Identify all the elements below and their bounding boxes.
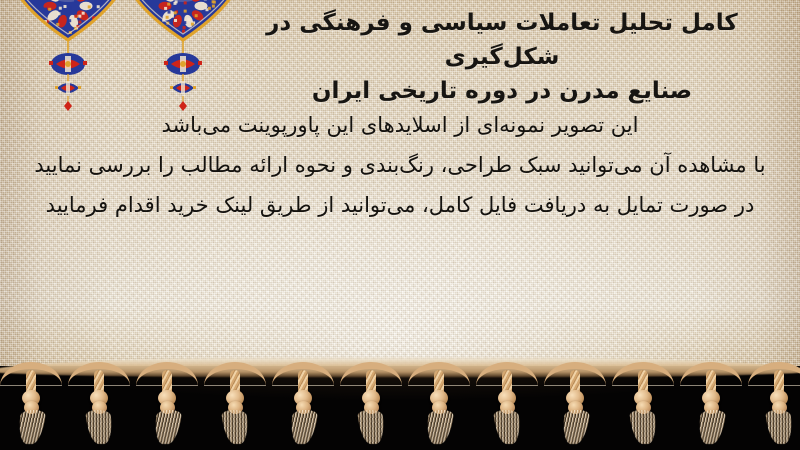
slide-title-line-2: صنایع مدرن در دوره تاریخی ایران (312, 78, 692, 104)
slide-body-text: این تصویر نمونه‌ای از اسلایدهای این پاور… (10, 105, 790, 225)
slide-bottom-black-band (0, 366, 800, 450)
presentation-slide: کامل تحلیل تعاملات سیاسی و فرهنگی در شکل… (0, 0, 800, 450)
slide-body-line-2: با مشاهده آن می‌توانید سبک طراحی، رنگ‌بن… (10, 145, 790, 185)
slide-title: کامل تحلیل تعاملات سیاسی و فرهنگی در شکل… (222, 6, 782, 108)
slide-body-line-3: در صورت تمایل به دریافت فایل کامل، می‌تو… (10, 185, 790, 225)
slide-text-layer: کامل تحلیل تعاملات سیاسی و فرهنگی در شکل… (0, 0, 800, 372)
slide-title-line-1: کامل تحلیل تعاملات سیاسی و فرهنگی در شکل… (266, 10, 738, 70)
slide-body-line-1: این تصویر نمونه‌ای از اسلایدهای این پاور… (10, 105, 790, 145)
